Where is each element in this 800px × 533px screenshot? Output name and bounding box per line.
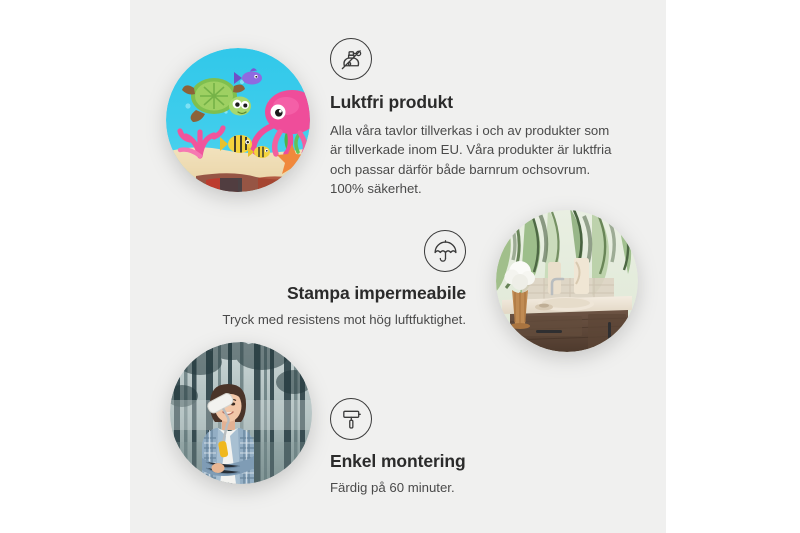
photo-clip [170,342,312,484]
feature-body: Tryck med resistens mot hög luftfuktighe… [178,310,466,329]
no-fragrance-icon [330,38,372,80]
feature-title: Enkel montering [330,451,610,473]
feature-title: Stampa impermeabile [178,283,466,305]
painter-woman-photo [170,342,312,484]
photo-clip [496,210,638,352]
umbrella-icon [424,230,466,272]
feature-body: Alla våra tavlor tillverkas i och av pro… [330,121,620,199]
feature-easy-install: Enkel montering Färdig på 60 minuter. [330,398,610,497]
photo-clip [166,48,310,192]
underwater-cartoon-mural [166,48,310,192]
feature-waterproof: Stampa impermeabile Tryck med resistens … [178,230,466,329]
paint-roller-icon [330,398,372,440]
feature-body: Färdig på 60 minuter. [330,478,610,497]
bathroom-interior-photo [496,210,638,352]
feature-odourless: Luktfri produkt Alla våra tavlor tillver… [330,38,620,199]
feature-title: Luktfri produkt [330,92,620,114]
feature-banner: Luktfri produkt Alla våra tavlor tillver… [0,0,800,533]
